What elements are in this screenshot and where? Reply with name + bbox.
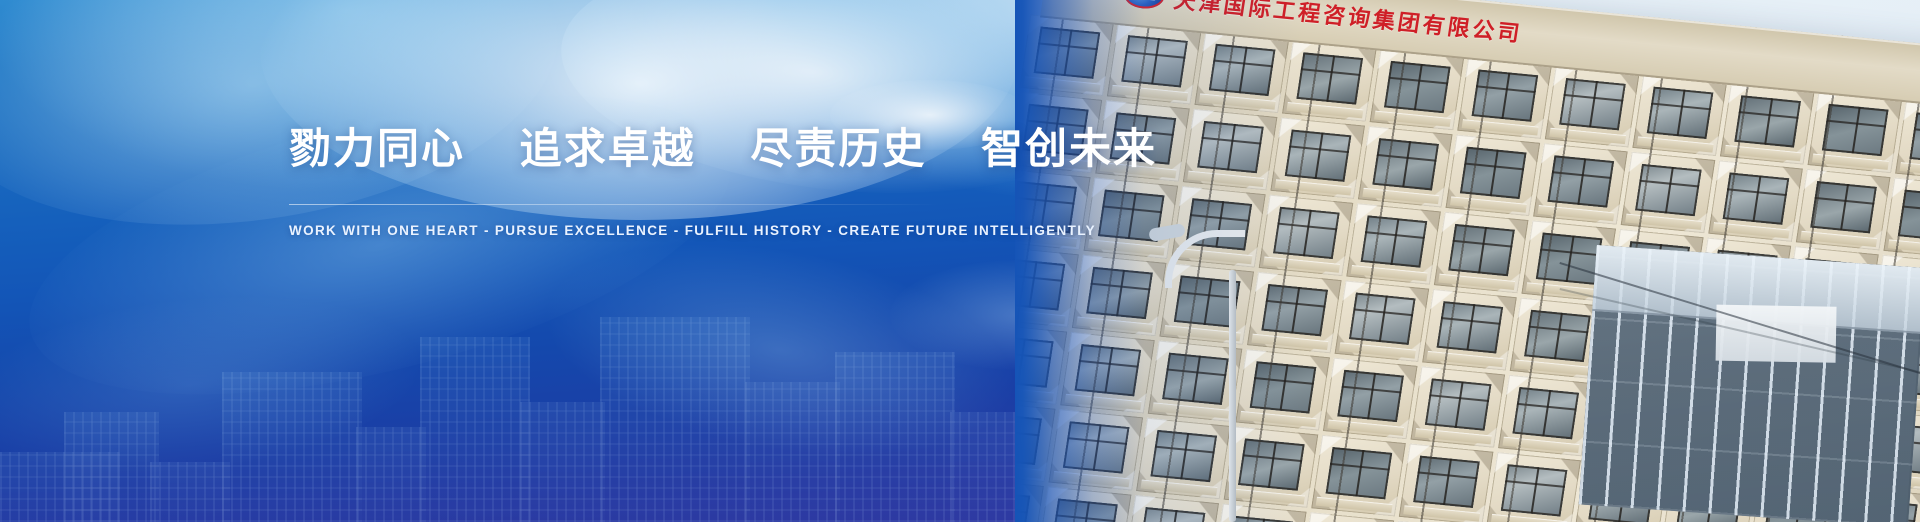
skyline-windows	[520, 402, 605, 522]
banner-subtitle: WORK WITH ONE HEART - PURSUE EXCELLENCE …	[289, 223, 989, 238]
street-lamp	[1143, 222, 1303, 522]
skyline-windows	[356, 427, 426, 522]
skyline-block	[356, 427, 426, 522]
skyline-windows	[835, 352, 955, 522]
skyline-block	[520, 402, 605, 522]
skyline-windows	[420, 337, 530, 522]
skyline-windows	[150, 462, 230, 522]
skyline-block	[150, 462, 230, 522]
divider-rule	[289, 204, 939, 205]
skyline-block	[222, 372, 362, 522]
lamp-arm	[1165, 230, 1245, 288]
city-silhouette	[0, 292, 1120, 522]
annex-drape	[1716, 305, 1837, 363]
company-emblem-icon	[1122, 0, 1166, 10]
skyline-windows	[64, 412, 159, 522]
lamp-pole	[1229, 270, 1236, 522]
skyline-block	[835, 352, 955, 522]
hero-banner: 天津国际工程咨询集团有限公司 勠力同心 追求卓越 尽责历史 智创未来 WORK …	[0, 0, 1920, 522]
skyline-block	[600, 317, 750, 522]
glass-annex-building	[1579, 245, 1920, 522]
skyline-windows	[600, 317, 750, 522]
skyline-windows	[222, 372, 362, 522]
slogan-block: 勠力同心 追求卓越 尽责历史 智创未来 WORK WITH ONE HEART …	[289, 124, 989, 238]
lamp-head	[1148, 223, 1186, 242]
building-photo: 天津国际工程咨询集团有限公司	[1015, 0, 1920, 522]
skyline-block	[745, 382, 840, 522]
skyline-block	[64, 412, 159, 522]
skyline-block	[420, 337, 530, 522]
banner-headline: 勠力同心 追求卓越 尽责历史 智创未来	[289, 124, 989, 174]
skyline-windows	[745, 382, 840, 522]
